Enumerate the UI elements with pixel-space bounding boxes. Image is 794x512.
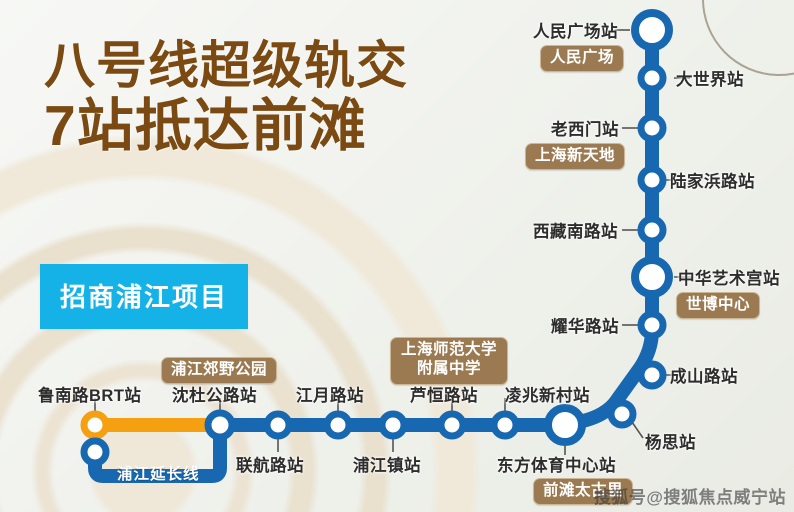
station-label-shendugonglu[interactable]: 沈杜公路站	[172, 382, 257, 406]
station-dot-renminguangchang[interactable]	[635, 13, 669, 47]
poi-tag-renminguangchang[interactable]: 人民广场	[540, 45, 624, 72]
station-dot-lianhanglu[interactable]	[267, 414, 289, 436]
station-dot-shendugonglu[interactable]	[208, 413, 232, 437]
station-dot-lunanlu-brt[interactable]	[84, 414, 106, 436]
station-dot-dashijie[interactable]	[641, 67, 663, 89]
station-dot-branch-terminus[interactable]	[84, 441, 106, 463]
station-label-lianhanglu[interactable]: 联航路站	[236, 452, 304, 476]
station-dot-pujiangzhen[interactable]	[382, 414, 404, 436]
station-dot-dongfangtiyuzhongxin[interactable]	[548, 408, 582, 442]
station-label-chengshanlu[interactable]: 成山路站	[670, 363, 738, 387]
watermark: 搜狐号@搜狐焦点威宁站	[594, 483, 786, 508]
station-label-lujiabanglu[interactable]: 陆家浜路站	[670, 168, 755, 192]
station-label-pujiangzhen[interactable]: 浦江镇站	[353, 452, 421, 476]
station-dot-chengshanlu[interactable]	[641, 364, 663, 386]
poi-tag-shanghaishifandaxue[interactable]: 上海师范大学 附属中学	[390, 337, 508, 385]
poi-tag-line-1: 上海师范大学	[401, 341, 497, 360]
station-dot-zhonghuayishugong[interactable]	[635, 260, 669, 294]
station-label-yangsi[interactable]: 杨思站	[645, 429, 696, 453]
station-label-laoximen[interactable]: 老西门站	[551, 116, 619, 140]
station-label-renminguangchang[interactable]: 人民广场站	[533, 18, 618, 42]
station-dot-lingzhaoxincun[interactable]	[494, 414, 516, 436]
station-label-yaohualu[interactable]: 耀华路站	[551, 313, 619, 337]
station-dot-luhenglu[interactable]	[441, 414, 463, 436]
poi-tag-shanghaixintiandi[interactable]: 上海新天地	[525, 143, 625, 170]
station-dot-laoximen[interactable]	[641, 117, 663, 139]
station-label-luhenglu[interactable]: 芦恒路站	[410, 382, 478, 406]
station-label-lunanlu-brt[interactable]: 鲁南路BRT站	[38, 382, 141, 406]
station-dot-jiangyuelu[interactable]	[327, 414, 349, 436]
station-dot-xizangnanlu[interactable]	[641, 219, 663, 241]
station-dot-yangsi[interactable]	[611, 403, 633, 425]
station-label-zhonghuayishugong[interactable]: 中华艺术宫站	[678, 265, 780, 289]
station-dot-lujiabanglu[interactable]	[641, 169, 663, 191]
poi-tag-pujiangjiaoyegongyuan[interactable]: 浦江郊野公园	[161, 357, 277, 384]
station-dot-yaohualu[interactable]	[641, 314, 663, 336]
station-label-jiangyuelu[interactable]: 江月路站	[296, 382, 364, 406]
branch-line-label: 浦江延长线	[117, 462, 200, 484]
station-label-xizangnanlu[interactable]: 西藏南路站	[533, 218, 618, 242]
station-label-dashijie[interactable]: 大世界站	[676, 66, 744, 90]
station-label-lingzhaoxincun[interactable]: 凌兆新村站	[505, 382, 590, 406]
poi-tag-line-2: 附属中学	[401, 360, 497, 379]
transit-map-infographic: 八号线超级轨交 7站抵达前滩 招商浦江项目	[0, 0, 794, 512]
poi-tag-shibozhongxin[interactable]: 世博中心	[676, 292, 760, 319]
station-label-dongfangtiyuzhongxin[interactable]: 东方体育中心站	[497, 452, 616, 476]
